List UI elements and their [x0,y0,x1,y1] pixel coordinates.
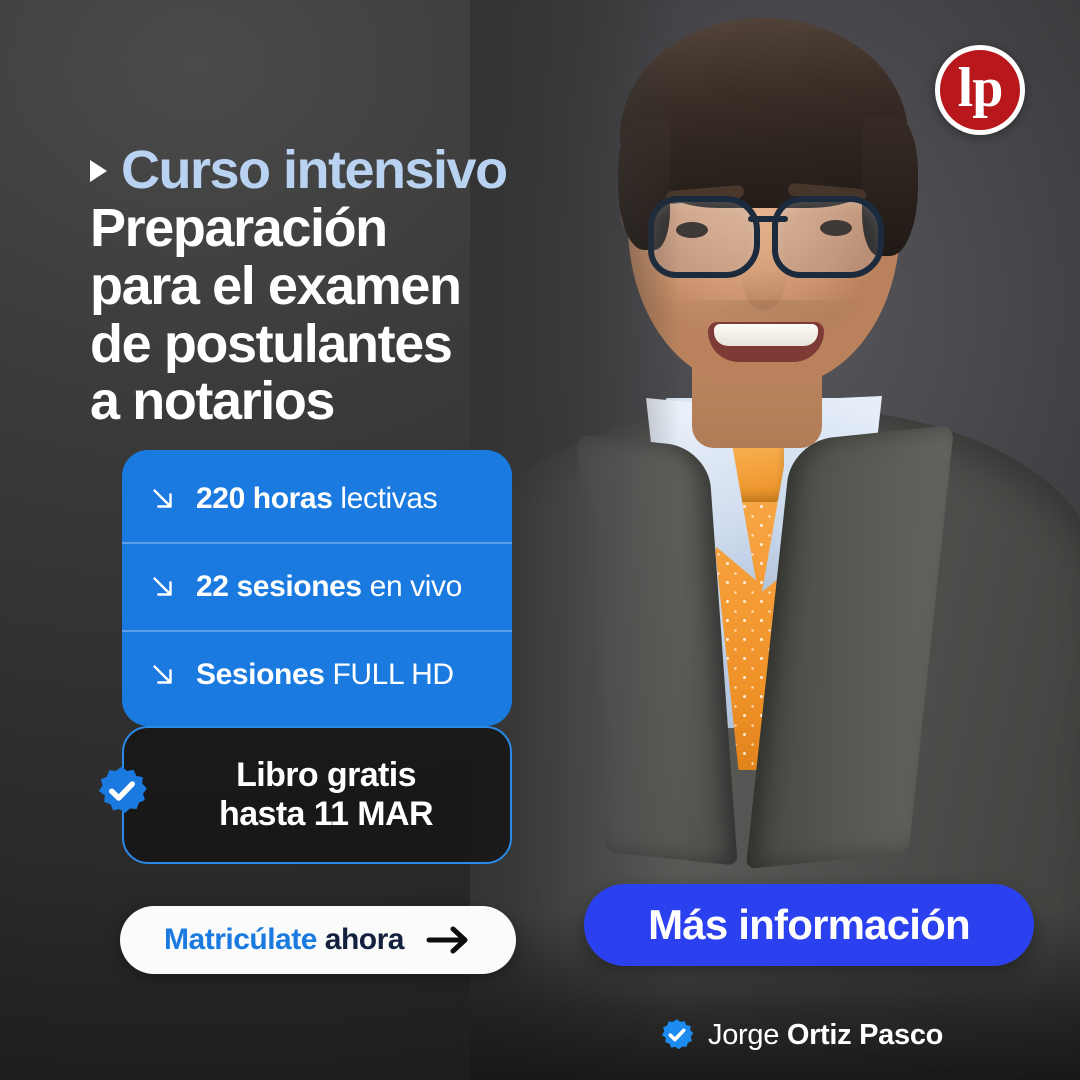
eyebrow-text: Curso intensivo [121,142,507,198]
arrow-right-icon [426,925,472,955]
title-line-3: de postulantes [90,316,610,374]
feature-label: Sesiones FULL HD [196,658,454,692]
feature-item: Sesiones FULL HD [122,630,512,718]
promo-line-1: Libro gratis [219,756,433,795]
title-line-2: para el examen [90,258,610,316]
free-book-promo-box: Libro gratis hasta 11 MAR [122,726,512,864]
arrow-down-right-icon [148,572,178,602]
verified-check-badge-icon [96,765,148,817]
more-information-label: Más información [648,901,970,949]
title-line-1: Preparación [90,200,610,258]
lens-right [772,196,884,278]
teeth [714,324,818,346]
speaker-last-name: Ortiz Pasco [787,1019,943,1051]
feature-label: 22 sesiones en vivo [196,570,462,604]
eyebrow-row: Curso intensivo [90,142,610,198]
enroll-label-part2: ahora [325,923,404,956]
headline-block: Curso intensivo Preparación para el exam… [90,142,610,431]
title-line-4: a notarios [90,373,610,431]
speaker-name: Jorge Ortiz Pasco [708,1019,943,1052]
feature-label: 220 horas lectivas [196,482,437,516]
feature-rest: FULL HD [325,658,454,691]
arrow-down-right-icon [148,660,178,690]
promo-text: Libro gratis hasta 11 MAR [201,756,433,835]
glasses-bridge [748,216,788,222]
promo-line-2: hasta 11 MAR [219,795,433,834]
feature-strong: 22 sesiones [196,570,362,603]
enroll-now-button[interactable]: Matricúlate ahora [120,906,516,974]
lp-logo-text: lp [958,60,1003,116]
feature-item: 220 horas lectivas [122,456,512,542]
play-triangle-icon [90,160,107,182]
features-card: 220 horas lectivas 22 sesiones en vivo S… [122,450,512,726]
promo-poster: lp Curso intensivo Preparación para el e… [0,0,1080,1080]
feature-strong: Sesiones [196,658,325,691]
mouth [708,322,824,362]
feature-rest: en vivo [362,570,462,603]
lp-logo[interactable]: lp [935,45,1025,135]
more-information-button[interactable]: Más información [584,884,1034,966]
page-title: Preparación para el examen de postulante… [90,200,610,431]
feature-item: 22 sesiones en vivo [122,542,512,630]
speaker-credit: Jorge Ortiz Pasco [660,1018,943,1052]
enroll-now-label: Matricúlate ahora [164,923,404,957]
feature-rest: lectivas [332,482,437,515]
nose [742,244,786,310]
enroll-label-part1: Matricúlate [164,923,317,956]
feature-strong: 220 horas [196,482,332,515]
verified-check-badge-icon [660,1018,694,1052]
speaker-first-name: Jorge [708,1019,787,1051]
arrow-down-right-icon [148,484,178,514]
